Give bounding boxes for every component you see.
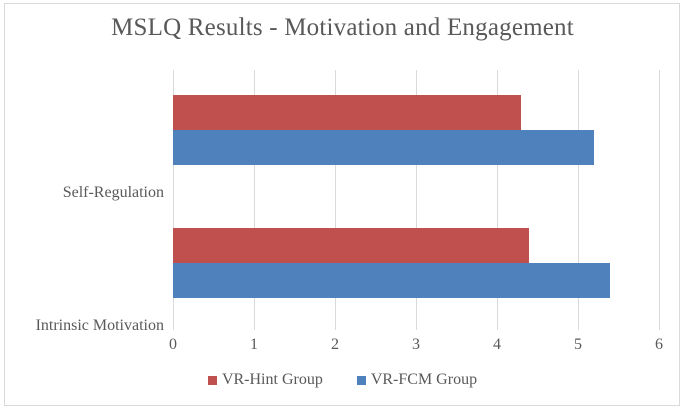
x-tick-5: 5 <box>558 336 598 354</box>
chart-container: MSLQ Results - Motivation and Engagement… <box>0 0 685 411</box>
gridline-6 <box>659 70 660 330</box>
legend-label-vr-hint: VR-Hint Group <box>222 371 323 389</box>
legend-item-vr-fcm-group: VR-FCM Group <box>357 371 477 389</box>
bar-intrinsic-motivation-vr-hint <box>173 228 529 263</box>
chart-title: MSLQ Results - Motivation and Engagement <box>0 14 685 42</box>
x-tick-1: 1 <box>234 336 274 354</box>
legend-swatch-icon-vr-fcm <box>357 376 366 385</box>
y-axis-label-self-regulation: Self-Regulation <box>0 184 164 202</box>
x-tick-2: 2 <box>315 336 355 354</box>
plot-area <box>173 70 659 330</box>
x-tick-6: 6 <box>639 336 679 354</box>
x-tick-4: 4 <box>477 336 517 354</box>
x-tick-0: 0 <box>153 336 193 354</box>
x-tick-3: 3 <box>396 336 436 354</box>
legend-swatch-icon-vr-hint <box>208 376 217 385</box>
bar-self-regulation-vr-fcm <box>173 130 594 165</box>
legend-item-vr-hint-group: VR-Hint Group <box>208 371 323 389</box>
y-axis-label-intrinsic-motivation: Intrinsic Motivation <box>0 317 164 335</box>
legend-label-vr-fcm: VR-FCM Group <box>371 371 477 389</box>
y-axis-category-labels: Self-Regulation Intrinsic Motivation <box>0 70 164 330</box>
bar-self-regulation-vr-hint <box>173 95 521 130</box>
chart-legend: VR-Hint Group VR-FCM Group <box>0 371 685 389</box>
bar-intrinsic-motivation-vr-fcm <box>173 263 610 298</box>
